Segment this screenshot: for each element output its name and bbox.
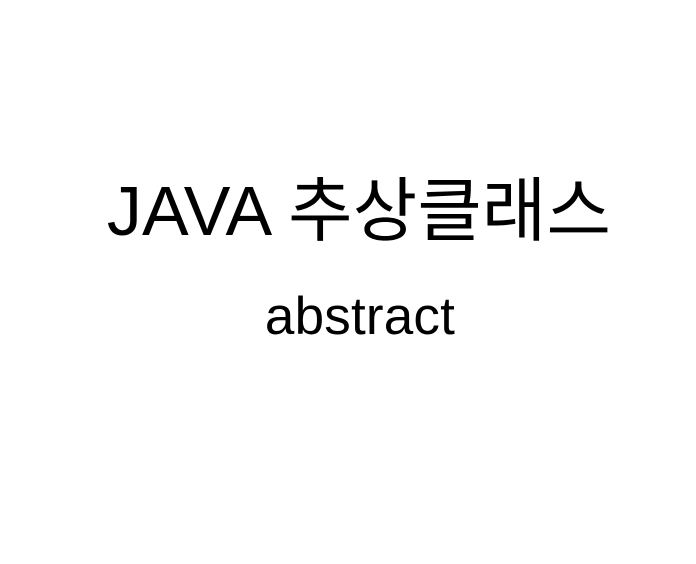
slide-content-area (0, 380, 696, 564)
presentation-slide: JAVA 추상클래스 abstract (0, 0, 696, 564)
page-title: JAVA 추상클래스 (22, 176, 696, 246)
slide-subtitle-container: abstract (0, 290, 696, 343)
slide-title-container: JAVA 추상클래스 (0, 176, 696, 246)
page-subtitle: abstract (24, 290, 696, 343)
